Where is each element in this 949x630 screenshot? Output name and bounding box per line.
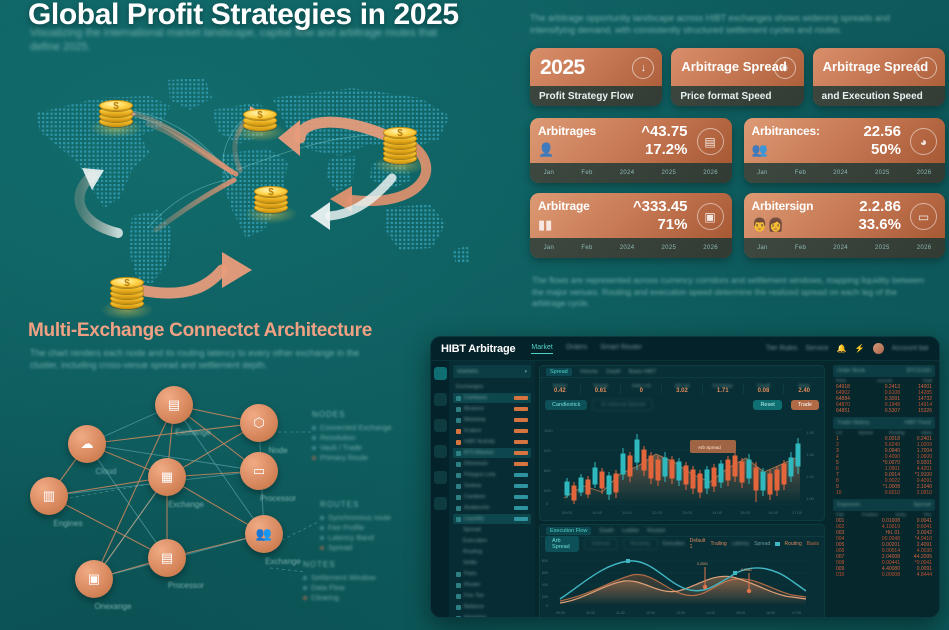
svg-text:1100: 1100 (544, 428, 553, 433)
stat-footer-tick: Feb (795, 245, 806, 251)
sidebar-item[interactable]: Solana (453, 481, 531, 491)
legend-item: Vault / Trade (312, 443, 392, 453)
legend-item: Primary Route (312, 453, 392, 463)
sidebar-item-label: Solana (464, 483, 481, 489)
network-legend: ROUTES Synchronous route Fee Profile Lat… (320, 500, 391, 553)
gear-icon[interactable] (434, 471, 447, 484)
book-title: Trade History (837, 420, 870, 426)
section-subtitle: The chart renders each node and its rout… (30, 347, 390, 371)
col: Spread (858, 430, 873, 435)
sidebar-tail-label: Fee Tier (464, 593, 484, 599)
legend-item: Resolution (312, 433, 392, 443)
chip-caption: Price format Speed (671, 86, 803, 106)
item-icon (456, 495, 461, 500)
chip-card[interactable]: 2025 ↓ Profit Strategy Flow (530, 48, 662, 106)
image-icon: ▣ (697, 203, 724, 230)
candlestick-svg: 1100920800 5000 1.301.181.101.00 09:0010… (540, 412, 818, 518)
item-icon (456, 462, 461, 467)
inline-latency: Latency (732, 541, 750, 547)
book-header: Exposure Spread (833, 499, 935, 511)
col: Amount (877, 378, 893, 383)
stat-key: Payoff (744, 383, 784, 388)
stat-value: 2.2.86 (859, 198, 901, 215)
dashboard-topbar: HIBT Arbitrage Market Orders Smart Route… (431, 337, 939, 361)
chip-caption: Profit Strategy Flow (530, 86, 662, 106)
item-icon (456, 429, 461, 434)
dashboard-main: Markets ▾ Exchanges Coinbase Binance Bit… (431, 361, 939, 618)
service-link[interactable]: Service (805, 345, 828, 352)
legend-dot (320, 526, 324, 530)
stat-value: 22.56 (863, 123, 901, 140)
book-title: Exposure (837, 502, 860, 508)
item-bar (514, 484, 528, 488)
item-icon (456, 583, 461, 588)
stat-footer: Jan Feb 2024 2025 2026 (744, 238, 946, 258)
svg-text:09:00: 09:00 (562, 510, 573, 515)
bot-icon[interactable] (434, 393, 447, 406)
stat-card[interactable]: Arbitrances: 22.56 50% 👥 ◕ Jan Feb 2024 … (744, 118, 946, 183)
legend-label: Vault / Trade (320, 443, 362, 453)
cell: 10 (836, 490, 868, 496)
network-node-label: Exchange (153, 428, 233, 437)
item-bar (514, 473, 528, 477)
lock-icon[interactable] (434, 497, 447, 510)
price-stat: Basis2.40 (784, 383, 824, 394)
book-title: Order Book (837, 368, 865, 374)
sidebar-item[interactable]: HIBT Activity (453, 437, 531, 447)
col: Pair (836, 512, 844, 517)
stat-footer-tick: Feb (581, 245, 592, 251)
legend-label: Settlement Window (311, 573, 376, 583)
stat-key: Market (540, 383, 580, 388)
tab-market[interactable]: Market (531, 344, 552, 354)
db-icon: ▤ (161, 550, 173, 566)
sidebar-item[interactable]: Binance (453, 404, 531, 414)
sidebar-subitem-label: Spread (463, 527, 481, 533)
stat-val: 0.61 (581, 388, 621, 394)
stat-footer-tick: Jan (544, 245, 555, 251)
item-bar (514, 462, 528, 466)
stat-footer-tick: Jan (757, 245, 768, 251)
svg-text:800: 800 (544, 468, 551, 473)
tab-routed[interactable]: Routed (647, 528, 665, 534)
legend-item: Data Flow (303, 583, 376, 593)
legend-item: Latency Band (320, 533, 391, 543)
item-icon (456, 484, 461, 489)
sidebar-tail-item[interactable]: Watchlist (453, 613, 531, 618)
svg-text:10:00: 10:00 (592, 510, 603, 515)
candlestick-chart[interactable]: 1100920800 5000 1.301.181.101.00 09:0010… (540, 412, 824, 520)
legend-label: Fee Profile (328, 523, 364, 533)
sidebar-item-label: Avalanche (464, 505, 490, 511)
network-node[interactable]: ▦ (148, 458, 186, 496)
sidebar-tail-item[interactable]: Fee Tier (453, 591, 531, 601)
stat-footer: Jan Feb 2024 2025 2026 (530, 163, 732, 183)
legend-item: Settlement Window (303, 573, 376, 583)
trade-button[interactable]: Trade (791, 400, 819, 410)
sidebar-tail-item[interactable]: Balance (453, 602, 531, 612)
sidebar-tail-label: Pairs (464, 571, 477, 577)
stat-value: ^43.75 (641, 123, 687, 140)
col: Lvl (836, 430, 842, 435)
sidebar-subitem-label: Execution (463, 538, 487, 544)
sidebar-item-label: HIBT Activity (464, 439, 495, 445)
price-panel-tools: Candlestick 1h Interval Spread Reset Tra… (540, 398, 824, 412)
price-stats-row: Market0.42 Spread0.61 Index Arb0 24h Vol… (540, 378, 824, 398)
book-row: 100.60102.0910 (833, 490, 935, 496)
tab-execution-flow[interactable]: Execution Flow (546, 527, 591, 535)
sidebar-tail-item[interactable]: Pairs (453, 569, 531, 579)
svg-text:12:00: 12:00 (646, 611, 655, 615)
svg-text:14:00: 14:00 (706, 611, 715, 615)
stat-footer-tick: 2025 (662, 245, 677, 251)
stat-label: Arbitrages (538, 124, 724, 138)
item-icon (456, 407, 461, 412)
item-icon (456, 594, 461, 599)
book-header: Trade History HIBT Feed (833, 417, 935, 429)
network-node[interactable]: ▥ (30, 477, 68, 515)
svg-text:0: 0 (546, 501, 549, 506)
chip-card[interactable]: Arbitrage Spread ✷ Price format Speed (671, 48, 803, 106)
svg-text:600: 600 (542, 571, 548, 575)
book-selector[interactable]: BTC/USD (907, 368, 931, 374)
network-node-label: Engines (28, 519, 108, 528)
cell: 010 (836, 572, 868, 578)
chart-annotation: Arb Spread (698, 445, 721, 450)
stat-label: Arbitrage (538, 199, 724, 213)
sidebar-item-label: Ethereum (464, 461, 488, 467)
line-chart[interactable]: 8006004002000 09:0010:0011:00 12:0013:00… (540, 551, 824, 618)
arrow-down-circle-icon: ↓ (915, 57, 937, 79)
legend-item: Fee Profile (320, 523, 391, 533)
node-icon: ⬡ (253, 415, 264, 431)
line-panel-tabs: Execution Flow Depth Ladder Routed (540, 525, 824, 537)
stat-key: Spread (581, 383, 621, 388)
stat-card[interactable]: Arbitrage ^333.45 71% ▮▮ ▣ Jan Feb 2024 … (530, 193, 732, 258)
network-node[interactable]: ▤ (148, 539, 186, 577)
network-node[interactable]: ▤ (155, 386, 193, 424)
sidebar-item-label: BTC/Market (464, 450, 493, 456)
price-stat: 24h Vol3.02 (662, 383, 703, 394)
sidebar-tail-item[interactable]: Router (453, 580, 531, 590)
dashboard-window: HIBT Arbitrage Market Orders Smart Route… (430, 336, 940, 618)
tab-smart-router[interactable]: Smart Router (600, 344, 642, 354)
item-bar (514, 517, 528, 521)
legend-item: Spread (320, 543, 391, 553)
network-node-label: Processor (146, 581, 226, 590)
tab-volume[interactable]: Volume (580, 369, 598, 375)
legend-dot (312, 446, 316, 450)
stat-footer-tick: 2026 (917, 245, 932, 251)
tab-orders[interactable]: Orders (566, 344, 587, 354)
legend-spread: Spread (754, 541, 770, 547)
col: Price (836, 378, 846, 383)
stat-key: Basis (784, 383, 824, 388)
stat-footer-tick: 2026 (703, 170, 718, 176)
grid-icon[interactable] (434, 367, 447, 380)
sidebar-tail-label: Router (464, 582, 481, 588)
svg-text:13:00: 13:00 (682, 510, 693, 515)
bank-icon: ▦ (161, 469, 173, 485)
legend-swatch-spread (775, 542, 779, 546)
stat-footer-tick: 2025 (875, 170, 890, 176)
stat-footer-tick: Feb (795, 170, 806, 176)
tier-rules-link[interactable]: Tier Rules (766, 345, 798, 352)
list-icon: ▤ (697, 128, 724, 155)
settings-circle-icon: ✷ (774, 57, 796, 79)
sidebar-item[interactable]: Kraken (453, 426, 531, 436)
svg-text:17:00: 17:00 (792, 510, 803, 515)
right-body-text: The flows are represented across currenc… (532, 275, 932, 310)
network-node[interactable]: ▭ (240, 452, 278, 490)
monitor-icon: ▭ (253, 463, 265, 479)
sidebar-item[interactable]: Bitstamp (453, 415, 531, 425)
item-bar (514, 440, 528, 444)
stat-val: 0 (621, 388, 661, 394)
col: Routing (889, 430, 905, 435)
sidebar-item[interactable]: Coinbase (453, 393, 531, 403)
tab-basis[interactable]: Basis HIBT (629, 369, 657, 375)
legend-routing: Routing (785, 541, 802, 547)
item-icon (456, 616, 461, 619)
bars-icon: ▮▮ (538, 217, 552, 233)
legend-label: Synchronous route (328, 513, 391, 523)
price-panel: Spread Volume Depth Basis HIBT Market0.4… (539, 365, 825, 521)
inline-label: Execution (663, 541, 685, 547)
cell: 64851 (836, 408, 868, 414)
network-node-label: Onexange (73, 602, 153, 611)
order-book: Order Book BTC/USD Price Amount Total 64… (833, 365, 935, 414)
network-node[interactable]: 👥 (245, 515, 283, 553)
price-panel-tabs: Spread Volume Depth Basis HIBT (540, 366, 824, 378)
cell: 2.0910 (900, 490, 932, 496)
item-icon (456, 451, 461, 456)
legend-dot (320, 536, 324, 540)
tab-ladder[interactable]: Ladder (622, 528, 639, 534)
monitor-icon: ▭ (910, 203, 937, 230)
stat-label: Arbitrances: (752, 124, 938, 138)
book-columns: Price Amount Total (833, 377, 935, 384)
sidebar-group-label: Exchanges (456, 384, 483, 390)
svg-text:12:00: 12:00 (652, 510, 663, 515)
item-bar (514, 418, 528, 422)
network-node-label: Exchange (146, 500, 226, 509)
sidebar-item[interactable]: BTC/Market (453, 448, 531, 458)
stat-footer-tick: 2026 (917, 170, 932, 176)
stat-key: 24h Vol (662, 383, 702, 388)
price-stat: Market0.42 (540, 383, 581, 394)
svg-text:17:00: 17:00 (792, 611, 801, 615)
sidebar-subitem-label: Settle (463, 560, 477, 566)
cell: 0.5307 (868, 408, 900, 414)
reset-button[interactable]: Reset (753, 400, 781, 410)
legend-item: Connected Exchange (312, 423, 392, 433)
chart-icon[interactable] (434, 419, 447, 432)
sidebar-item-label: Coinbase (464, 395, 487, 401)
stat-card[interactable]: Arbitrages ^43.75 17.2% 👤 ▤ Jan Feb 2024… (530, 118, 732, 183)
sidebar-tail-label: Watchlist (464, 615, 486, 618)
poster-root: Global Profit Strategies in 2025 Visuali… (0, 0, 949, 630)
chip-caption: and Execution Speed (813, 86, 945, 106)
people-icon: 👨‍👩 (752, 217, 784, 233)
legend-label: Clearing (311, 593, 339, 603)
svg-text:13:00: 13:00 (676, 611, 685, 615)
cell: 15326 (900, 408, 932, 414)
stat-val: 3.02 (662, 388, 702, 394)
svg-text:200: 200 (542, 595, 548, 599)
svg-text:16:00: 16:00 (768, 510, 779, 515)
network-legend: NODES Connected Exchange Resolution Vaul… (312, 410, 392, 463)
stat-val: 0.08 (744, 388, 784, 394)
network-legend: NOTES Settlement Window Data Flow Cleari… (303, 560, 376, 603)
legend-dot (312, 426, 316, 430)
svg-text:0: 0 (546, 604, 548, 608)
tab-depth[interactable]: Depth (606, 369, 621, 375)
stat-key: Exchange (703, 383, 743, 388)
sidebar-item[interactable]: Ethereum (453, 459, 531, 469)
price-stat: Payoff0.08 (744, 383, 785, 394)
network-node-label: Cloud (66, 467, 146, 476)
stat-footer-tick: 2025 (875, 245, 890, 251)
group-icon: 👥 (752, 142, 768, 158)
sidebar-subitem[interactable]: Routing (453, 547, 531, 557)
stat-key: Index Arb (621, 383, 661, 388)
legend-dot (303, 586, 307, 590)
chip-value: Arbitrage Spread (681, 60, 786, 74)
legend-item: Clearing (303, 593, 376, 603)
trade-history: Trade History HIBT Feed Lvl Spread Routi… (833, 417, 935, 496)
screen-icon: ▣ (88, 571, 100, 587)
market-selector[interactable]: Markets ▾ (453, 365, 531, 378)
tab-spread[interactable]: Spread (546, 368, 572, 376)
cell: 0.6010 (868, 490, 900, 496)
chart-type-button[interactable]: Candlestick (545, 400, 587, 410)
legend-label: Resolution (320, 433, 355, 443)
item-bar (514, 429, 528, 433)
sidebar-item[interactable]: Cardano (453, 492, 531, 502)
svg-text:16:00: 16:00 (766, 611, 775, 615)
interval-chip[interactable]: Interval (584, 538, 618, 550)
sidebar-subitem[interactable]: Execution (453, 536, 531, 546)
item-icon (456, 396, 461, 401)
sidebar-item[interactable]: Avalanche (453, 503, 531, 513)
network-node[interactable]: ⬡ (240, 404, 278, 442)
book-selector[interactable]: Spread (913, 502, 931, 508)
svg-text:09:00: 09:00 (556, 611, 565, 615)
avatar[interactable] (873, 343, 884, 354)
sidebar-subitem-label: Routing (463, 549, 482, 555)
line-marker-label: 0.2001 (697, 562, 708, 566)
stat-percent: 33.6% (858, 216, 901, 233)
routing-chip[interactable]: Routing (623, 538, 658, 550)
book-selector[interactable]: HIBT Feed (905, 420, 932, 426)
svg-text:1.10: 1.10 (806, 474, 815, 479)
stat-footer-tick: 2024 (833, 245, 848, 251)
legend-dot (312, 456, 316, 460)
arb-spread-chip[interactable]: Arb Spread (545, 536, 579, 552)
page-subtitle: Visualizing the international market lan… (30, 26, 450, 54)
stat-card[interactable]: Arbitersign 2.2.86 33.6% 👨‍👩 ▭ Jan Feb 2… (744, 193, 946, 258)
market-selector-label: Markets (457, 369, 478, 375)
dashboard-brand: HIBT Arbitrage (441, 343, 515, 355)
wallet-icon: 👤 (538, 142, 554, 158)
item-icon (456, 572, 461, 577)
item-bar (514, 451, 528, 455)
exposure-table: Exposure Spread Pair Position Entry PnL … (833, 499, 935, 578)
chart-icon: ▥ (43, 488, 55, 504)
svg-text:1.30: 1.30 (806, 430, 815, 435)
legend-dot (303, 596, 307, 600)
world-map-illustration: $ $ $ $ (0, 58, 505, 320)
cell: 0.00008 (868, 572, 900, 578)
sidebar-subitem[interactable]: Spread (453, 525, 531, 535)
legend-label: Latency Band (328, 533, 374, 543)
stat-footer-tick: 2024 (620, 245, 635, 251)
sidebar-item[interactable]: Liquidity (453, 514, 531, 524)
col: Total (922, 378, 932, 383)
sidebar-item-label: Polygon Link (464, 472, 496, 478)
svg-text:1.18: 1.18 (806, 452, 815, 457)
legend-title: NODES (312, 410, 392, 419)
stat-footer-tick: 2025 (662, 170, 677, 176)
item-icon (456, 440, 461, 445)
wallet-icon[interactable] (434, 445, 447, 458)
col: Entry (896, 512, 907, 517)
price-stat: Spread0.61 (581, 383, 622, 394)
sidebar-item[interactable]: Polygon Link (453, 470, 531, 480)
sidebar-tail-label: Balance (464, 604, 484, 610)
bolt-icon[interactable]: ⚡ (855, 344, 865, 353)
stat-val: 0.42 (540, 388, 580, 394)
bell-icon[interactable]: 🔔 (837, 344, 847, 353)
network-diagram: ▤ Exchange ☁ Cloud ▥ Engines ▦ Exchange … (20, 372, 440, 622)
network-node[interactable]: ▣ (75, 560, 113, 598)
legend-basis: Basis (807, 541, 819, 547)
price-stat: Index Arb0 (621, 383, 662, 394)
legend-label: Connected Exchange (320, 423, 392, 433)
legend-title: ROUTES (320, 500, 391, 509)
tab-depth2[interactable]: Depth (599, 528, 614, 534)
legend-item: Synchronous route (320, 513, 391, 523)
price-stat: Exchange1.71 (703, 383, 744, 394)
legend-title: NOTES (303, 560, 376, 569)
svg-text:400: 400 (542, 583, 548, 587)
right-intro-text: The arbitrage opportunity landscape acro… (530, 12, 930, 36)
col: Value (921, 430, 932, 435)
col: Position (862, 512, 878, 517)
item-icon (456, 517, 461, 522)
sidebar-item-label: Cardano (464, 494, 485, 500)
chip-card[interactable]: Arbitrage Spread ↓ and Execution Speed (813, 48, 945, 106)
item-bar (514, 495, 528, 499)
network-node[interactable]: ☁ (68, 425, 106, 463)
svg-text:500: 500 (544, 488, 551, 493)
book-header: Order Book BTC/USD (833, 365, 935, 377)
item-icon (456, 605, 461, 610)
stat-val: 2.40 (784, 388, 824, 394)
dashboard-nav: Market Orders Smart Router (531, 344, 641, 354)
legend-label: Data Flow (311, 583, 345, 593)
pie-icon: ◕ (910, 128, 937, 155)
sidebar-subitem[interactable]: Settle (453, 558, 531, 568)
account-label[interactable]: Account bar (892, 345, 929, 352)
stat-percent: 17.2% (645, 141, 688, 158)
dashboard-topbar-right: Tier Rules Service 🔔 ⚡ Account bar (766, 343, 929, 354)
sidebar-item-label: Kraken (464, 428, 481, 434)
book-row: 648510.530715326 (833, 408, 935, 414)
interval-button[interactable]: 1h Interval Spread (592, 399, 653, 411)
item-bar (514, 396, 528, 400)
